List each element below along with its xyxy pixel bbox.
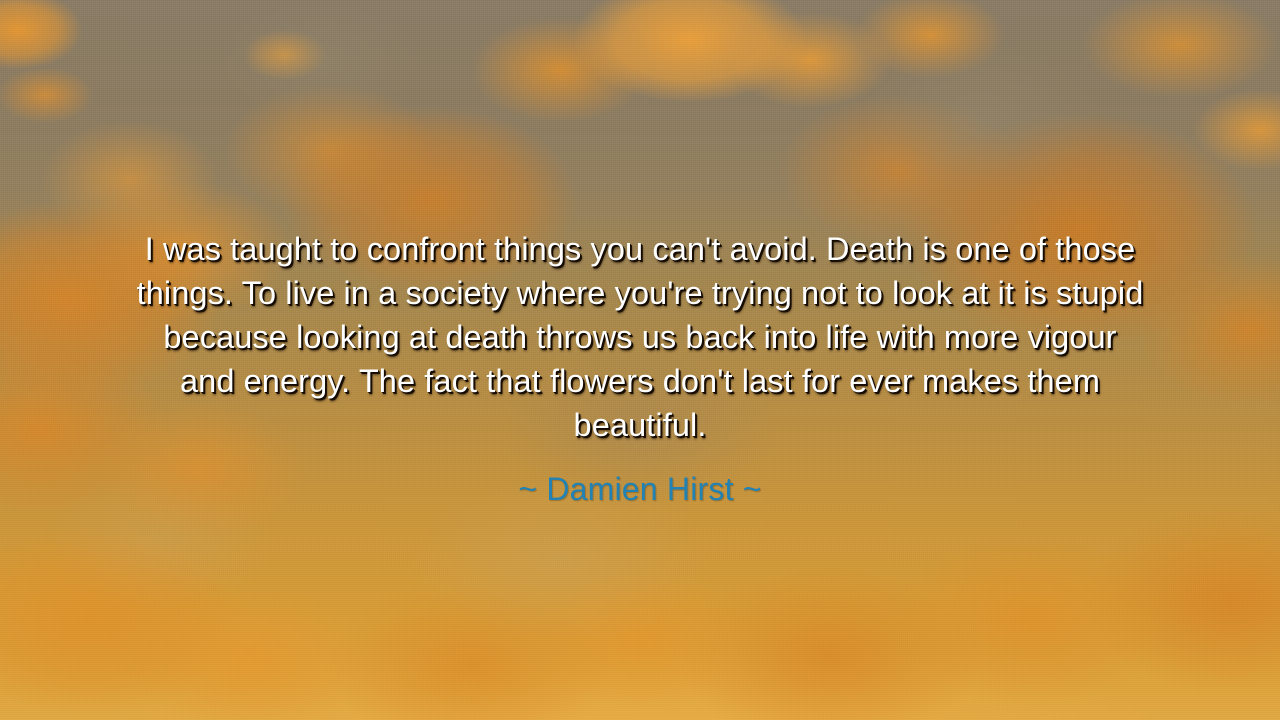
quote-card: I was taught to confront things you can'… [0,0,1280,720]
quote-text: I was taught to confront things you can'… [133,227,1148,447]
quote-content: I was taught to confront things you can'… [0,0,1280,720]
quote-attribution: ~ Damien Hirst ~ [518,469,761,509]
